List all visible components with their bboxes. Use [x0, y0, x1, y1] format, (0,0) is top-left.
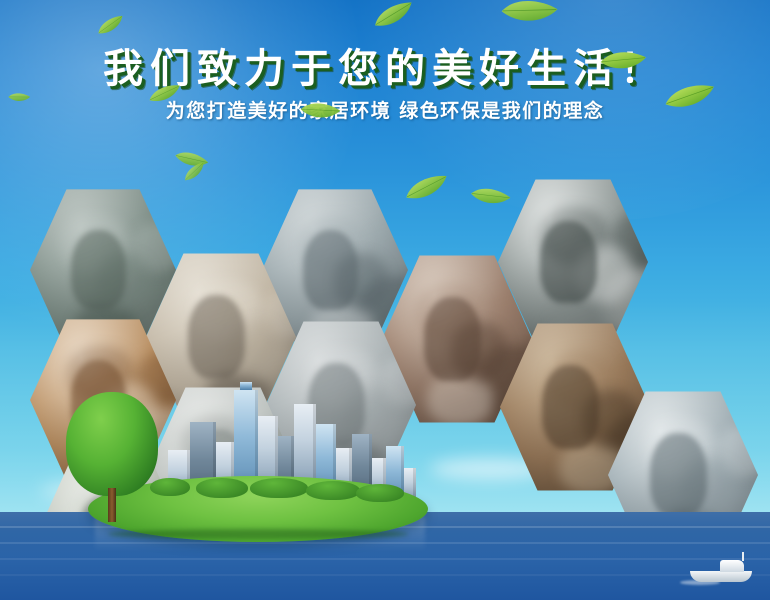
banner-canvas: 我们致力于您的美好生活！ 为您打造美好的家居环境 绿色环保是我们的理念 [0, 0, 770, 600]
island-bush [306, 481, 360, 500]
island-bush [356, 484, 404, 502]
island-bush [196, 478, 248, 498]
page-subtitle: 为您打造美好的家居环境 绿色环保是我们的理念 [0, 96, 770, 123]
small-white-boat [690, 556, 752, 582]
island-bush [250, 478, 308, 498]
island-bush [150, 478, 190, 496]
page-title: 我们致力于您的美好生活！ [0, 36, 770, 94]
